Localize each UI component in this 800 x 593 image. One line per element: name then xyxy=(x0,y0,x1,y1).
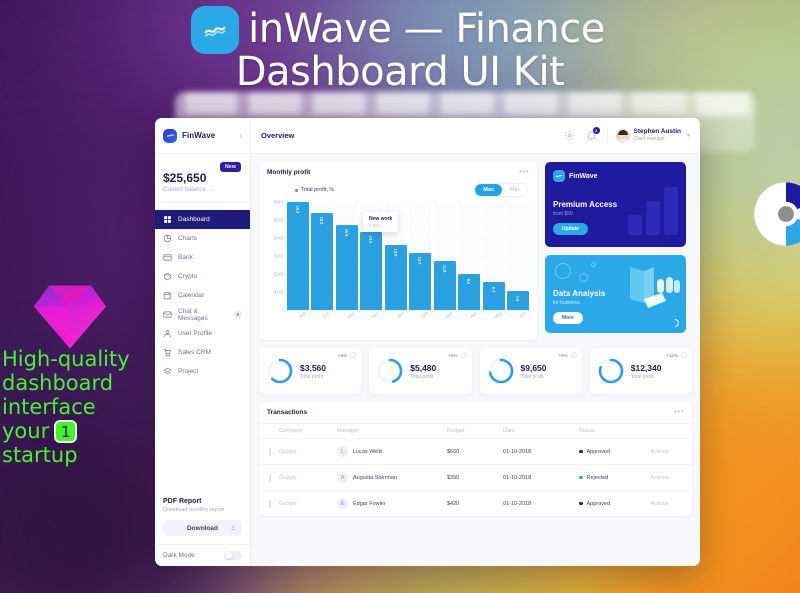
sidebar-item-bank[interactable]: Bank xyxy=(155,248,250,267)
manager-name: Lucas Wells xyxy=(353,449,383,455)
stat-donut-chart xyxy=(377,358,403,384)
status-cell: Rejected xyxy=(579,465,650,491)
chart-bars: 18.918.516.815.913.912.411.58.06.43.6 xyxy=(287,202,529,310)
stat-change-pct: +4% xyxy=(338,353,347,358)
legend-color-swatch xyxy=(295,189,298,192)
dashboard-window: FinWave ‹ New $25,650 Current balance → … xyxy=(155,118,700,566)
promo-line-2: dashboard xyxy=(2,372,154,396)
analysis-more-button[interactable]: More xyxy=(553,312,583,324)
chart-y-tick: 0 xyxy=(281,308,284,313)
avatar: E xyxy=(337,498,348,509)
budget-cell: $420 xyxy=(447,491,503,517)
company-cell: Google xyxy=(279,491,337,517)
chart-bar-slot[interactable]: 18.5 xyxy=(311,202,333,310)
status-cell: Approved xyxy=(579,491,650,517)
sidebar-item-calendar[interactable]: Calendar xyxy=(155,286,250,305)
actions-header xyxy=(650,424,692,439)
sidebar-item-sales-crm[interactable]: Sales CRM xyxy=(155,343,250,362)
help-icon[interactable] xyxy=(350,352,356,358)
content-area: Monthly profit ••• Total profit, % Max M… xyxy=(251,154,700,566)
help-icon[interactable] xyxy=(461,352,467,358)
card-icon xyxy=(163,253,172,262)
transactions-table-body: GoogleLLucas Wells$66001-10-2018Approved… xyxy=(259,439,692,517)
chart-bar-value: 8.0 xyxy=(467,279,472,285)
tooltip-title: New work xyxy=(369,216,392,222)
chart-bar-value: 15.9 xyxy=(369,235,374,243)
download-icon xyxy=(230,524,236,532)
toggle-option-max[interactable]: Max xyxy=(475,184,502,196)
stat-donut-chart xyxy=(267,358,293,384)
date-cell: 01-10-2018 xyxy=(503,439,579,465)
sidebar-item-label: Calendar xyxy=(178,292,204,299)
profile-menu[interactable]: Stephen Austin Chief manage ▾ xyxy=(607,128,690,142)
ellipsis-icon[interactable]: ••• xyxy=(674,410,684,415)
stat-value: $9,650 xyxy=(521,363,547,373)
date-cell: 01-10-2018 xyxy=(503,491,579,517)
stat-value: $5,480 xyxy=(410,363,436,373)
status-dot xyxy=(579,476,583,480)
sidebar-item-label: Chat & Messages xyxy=(178,308,227,322)
stat-donut-chart xyxy=(598,358,624,384)
transactions-table: CompanyManagerBudgetDateStatus GoogleLLu… xyxy=(259,423,692,516)
chart-bar-value: 3.6 xyxy=(516,296,521,302)
hero-title: inWave — Finance Dashboard UI Kit xyxy=(0,6,800,94)
stat-label: Total profit xyxy=(410,374,436,380)
avatar: L xyxy=(337,446,348,457)
table-column-header[interactable]: Company xyxy=(279,424,337,439)
stat-card[interactable]: +9%$9,650Total profit xyxy=(480,348,582,394)
user-icon xyxy=(163,329,172,338)
sidebar-item-label: Charts xyxy=(178,235,197,242)
ellipsis-icon[interactable]: ••• xyxy=(519,170,529,175)
status-dot xyxy=(579,502,583,506)
chart-bar-slot[interactable]: 8.0 xyxy=(458,202,480,310)
chart-bar-slot[interactable]: 6.4 xyxy=(483,202,505,310)
chart-bar-slot[interactable]: 3.6 xyxy=(507,202,529,310)
sidebar-item-label: User Profile xyxy=(178,330,212,337)
chart-bar[interactable]: 18.9 xyxy=(287,202,309,310)
sidebar-item-label: Sales CRM xyxy=(178,349,211,356)
status-badge: Approved xyxy=(587,501,611,507)
toggle-option-min[interactable]: Min xyxy=(502,184,527,196)
chart-bar-value: 11.5 xyxy=(442,265,447,273)
stat-change-pct: +6% xyxy=(448,353,457,358)
main-content: Overview 2 Stephen Austin Chief manage xyxy=(251,118,700,566)
row-actions-cell[interactable]: Actions xyxy=(650,491,692,517)
wave-logo-icon xyxy=(163,129,177,143)
table-row[interactable]: GoogleEEdgar Fowler$42001-10-2018Approve… xyxy=(259,491,692,517)
row-checkbox-cell[interactable] xyxy=(259,439,279,465)
wave-logo-icon xyxy=(191,6,239,54)
date-cell: 01-10-2018 xyxy=(503,465,579,491)
data-analysis-card[interactable]: Data Analysis for business More xyxy=(545,255,686,333)
dark-mode-row[interactable]: Dark Mode xyxy=(155,544,250,566)
grid-icon xyxy=(163,215,172,224)
manager-cell: EEdgar Fowler xyxy=(337,491,447,517)
pdf-report-subtitle: Download monthly report xyxy=(163,507,242,513)
actions-link[interactable]: Actions xyxy=(650,475,668,481)
row-checkbox[interactable] xyxy=(269,448,271,456)
chart-y-tick: $200 xyxy=(274,271,284,276)
cart-icon xyxy=(163,348,172,357)
bell-icon[interactable]: 2 xyxy=(585,129,598,142)
balance-amount: $25,650 xyxy=(163,171,242,185)
promo-last-line: startup xyxy=(2,444,154,468)
promo-column: FinWave Premium Access from $50 Update xyxy=(545,162,686,340)
sidebar-item-badge: 3 xyxy=(233,310,242,319)
promo-text: High-quality dashboard interface your 1 … xyxy=(2,348,154,468)
premium-brand-name: FinWave xyxy=(569,173,598,180)
chart-y-tick: $400 xyxy=(274,235,284,240)
download-button[interactable]: Download xyxy=(163,520,242,536)
transactions-title: Transactions xyxy=(267,409,307,416)
pdf-report-block: PDF Report Download monthly report Downl… xyxy=(155,490,250,544)
stat-card[interactable]: +4%$3,560Total profit xyxy=(259,348,361,394)
company-cell: Google xyxy=(279,465,337,491)
notification-count: 2 xyxy=(593,127,600,134)
chart-bar-value: 16.8 xyxy=(344,228,349,236)
topbar: Overview 2 Stephen Austin Chief manage xyxy=(251,118,700,154)
row-checkbox[interactable] xyxy=(269,500,271,508)
row-checkbox[interactable] xyxy=(269,474,271,482)
pie-chart-icon xyxy=(163,234,172,243)
hero-title-line1: inWave — Finance xyxy=(248,8,605,51)
stat-label: Total profit xyxy=(521,374,547,380)
gear-icon[interactable] xyxy=(563,129,576,142)
dark-mode-toggle[interactable] xyxy=(224,551,242,560)
chart-annotation-tooltip: New work 5 Dec xyxy=(363,212,398,232)
sidebar: FinWave ‹ New $25,650 Current balance → … xyxy=(155,118,251,566)
help-icon[interactable] xyxy=(571,352,577,358)
wave-logo-icon xyxy=(553,170,565,182)
moon-icon xyxy=(669,317,680,328)
row-actions-cell[interactable]: Actions xyxy=(650,465,692,491)
stat-change-pct: +12% xyxy=(666,353,678,358)
stat-card[interactable]: +6%$5,480Total profit xyxy=(369,348,471,394)
promo-your-word: your xyxy=(2,420,49,444)
chart-y-tick: $600 xyxy=(274,200,284,205)
table-row[interactable]: GoogleLLucas Wells$66001-10-2018Approved… xyxy=(259,439,692,465)
sidebar-item-dashboard[interactable]: Dashboard xyxy=(155,210,250,229)
chart-bar-value: 12.4 xyxy=(418,257,423,265)
balance-label-text: Current balance xyxy=(163,187,206,193)
budget-cell: $660 xyxy=(447,439,503,465)
stat-label: Total profit xyxy=(631,374,662,380)
premium-access-card[interactable]: FinWave Premium Access from $50 Update xyxy=(545,162,686,247)
diamond-icon xyxy=(163,272,172,281)
arrow-right-icon: → xyxy=(209,187,215,193)
chart-bar-slot[interactable]: 11.5 xyxy=(434,202,456,310)
tooltip-subtitle: 5 Dec xyxy=(369,223,392,228)
actions-link[interactable]: Actions xyxy=(650,501,668,507)
balance-label[interactable]: Current balance → xyxy=(163,187,242,193)
chart-bar[interactable]: 13.9 xyxy=(385,245,407,310)
chart-bar-slot[interactable]: 12.4 xyxy=(409,202,431,310)
page-title: Overview xyxy=(261,131,294,140)
avatar: A xyxy=(337,472,348,483)
stat-change-pct: +9% xyxy=(559,353,568,358)
brand-name: FinWave xyxy=(182,131,215,140)
stat-label: Total profit xyxy=(300,374,326,380)
sidebar-item-chat-messages[interactable]: Chat & Messages 3 xyxy=(155,305,250,324)
chart-legend: Total profit, % xyxy=(295,187,334,193)
chart-bar-value: 18.9 xyxy=(295,206,300,214)
layers-icon xyxy=(163,367,172,376)
row-actions-cell[interactable]: Actions xyxy=(650,439,692,465)
status-badge: Approved xyxy=(587,449,611,455)
row-checkbox-cell[interactable] xyxy=(259,491,279,517)
status-badge: New xyxy=(220,162,241,172)
chart-x-axis: SepOctNovDecJanFebMarAprMayJun xyxy=(287,310,529,332)
stat-value: $12,340 xyxy=(631,363,662,373)
actions-link[interactable]: Actions xyxy=(650,449,668,455)
side-donut-chart: 15% 28% xyxy=(750,178,800,250)
chart-bar-value: 6.4 xyxy=(491,286,496,292)
balance-card: New $25,650 Current balance → xyxy=(155,154,250,203)
monthly-profit-chart-card: Monthly profit ••• Total profit, % Max M… xyxy=(259,162,537,340)
stat-donut-chart xyxy=(488,358,514,384)
row-checkbox-cell[interactable] xyxy=(259,465,279,491)
sidebar-item-label: Crypto xyxy=(178,273,197,280)
status-badge: Rejected xyxy=(587,475,609,481)
sidebar-nav: Dashboard Charts Bank Crypto Calendar Ch… xyxy=(155,203,250,490)
chart-bar[interactable]: 18.5 xyxy=(311,213,333,310)
sketch-diamond-icon xyxy=(32,284,108,350)
sidebar-item-label: Bank xyxy=(178,254,193,261)
chart-bar-value: 13.9 xyxy=(393,248,398,256)
table-header-row: CompanyManagerBudgetDateStatus xyxy=(259,424,692,439)
stat-cards: +4%$3,560Total profit+6%$5,480Total prof… xyxy=(259,348,692,394)
chart-bar-slot[interactable]: 18.9 xyxy=(287,202,309,310)
profile-name: Stephen Austin xyxy=(634,128,681,136)
manager-cell: LLucas Wells xyxy=(337,439,447,465)
chart-y-tick: $500 xyxy=(274,217,284,222)
manager-cell: AAugusta Sherman xyxy=(337,465,447,491)
company-cell: Google xyxy=(279,439,337,465)
help-icon[interactable] xyxy=(681,352,687,358)
mail-icon xyxy=(163,310,172,319)
brand[interactable]: FinWave ‹ xyxy=(155,118,250,154)
dark-mode-label: Dark Mode xyxy=(163,552,195,559)
premium-update-button[interactable]: Update xyxy=(553,223,588,235)
sidebar-item-crypto[interactable]: Crypto xyxy=(155,267,250,286)
select-all-header xyxy=(259,424,279,439)
chart-bar-slot[interactable]: 16.8 xyxy=(336,202,358,310)
chevron-down-icon[interactable]: ▾ xyxy=(687,132,690,139)
profile-role: Chief manage xyxy=(634,136,681,142)
status-cell: Approved xyxy=(579,439,650,465)
sidebar-item-user-profile[interactable]: User Profile xyxy=(155,324,250,343)
promo-line-1: High-quality xyxy=(2,348,154,372)
table-row[interactable]: GoogleAAugusta Sherman$35001-10-2018Reje… xyxy=(259,465,692,491)
manager-name: Edgar Fowler xyxy=(353,501,386,507)
table-column-header[interactable]: Status xyxy=(579,424,650,439)
pdf-report-title: PDF Report xyxy=(163,498,242,505)
sidebar-item-label: Project xyxy=(178,368,198,375)
promo-line-3: interface xyxy=(2,396,154,420)
avatar xyxy=(616,129,630,143)
legend-label: Total profit, % xyxy=(301,187,334,193)
chart-title: Monthly profit xyxy=(267,169,310,176)
calendar-icon xyxy=(163,291,172,300)
promo-number-badge: 1 xyxy=(54,420,77,443)
budget-cell: $350 xyxy=(447,465,503,491)
hero-title-line2: Dashboard UI Kit xyxy=(0,51,800,94)
stat-card[interactable]: +12%$12,340Total profit xyxy=(590,348,692,394)
sidebar-item-label: Dashboard xyxy=(178,216,210,223)
manager-name: Augusta Sherman xyxy=(353,475,397,481)
chart-y-tick: $100 xyxy=(274,290,284,295)
chart-bar[interactable]: 12.4 xyxy=(409,253,431,310)
sidebar-item-project[interactable]: Project xyxy=(155,362,250,381)
chart-range-toggle[interactable]: Max Min xyxy=(474,183,528,197)
chart-y-axis: 0$100$200$300$400$500$600 xyxy=(267,202,286,310)
stat-value: $3,560 xyxy=(300,363,326,373)
status-dot xyxy=(579,450,583,454)
transactions-card: Transactions ••• CompanyManagerBudgetDat… xyxy=(259,402,692,516)
chart-bar[interactable]: 15.9 xyxy=(360,232,382,310)
table-column-header[interactable]: Budget xyxy=(447,424,503,439)
chart-y-tick: $300 xyxy=(274,254,284,259)
download-button-label: Download xyxy=(187,525,218,532)
table-column-header[interactable]: Manager xyxy=(337,424,447,439)
chart-bar[interactable]: 16.8 xyxy=(336,225,358,310)
table-column-header[interactable]: Date xyxy=(503,424,579,439)
sidebar-item-charts[interactable]: Charts xyxy=(155,229,250,248)
chevron-left-icon[interactable]: ‹ xyxy=(239,131,242,140)
chart-bar-value: 18.5 xyxy=(320,217,325,225)
